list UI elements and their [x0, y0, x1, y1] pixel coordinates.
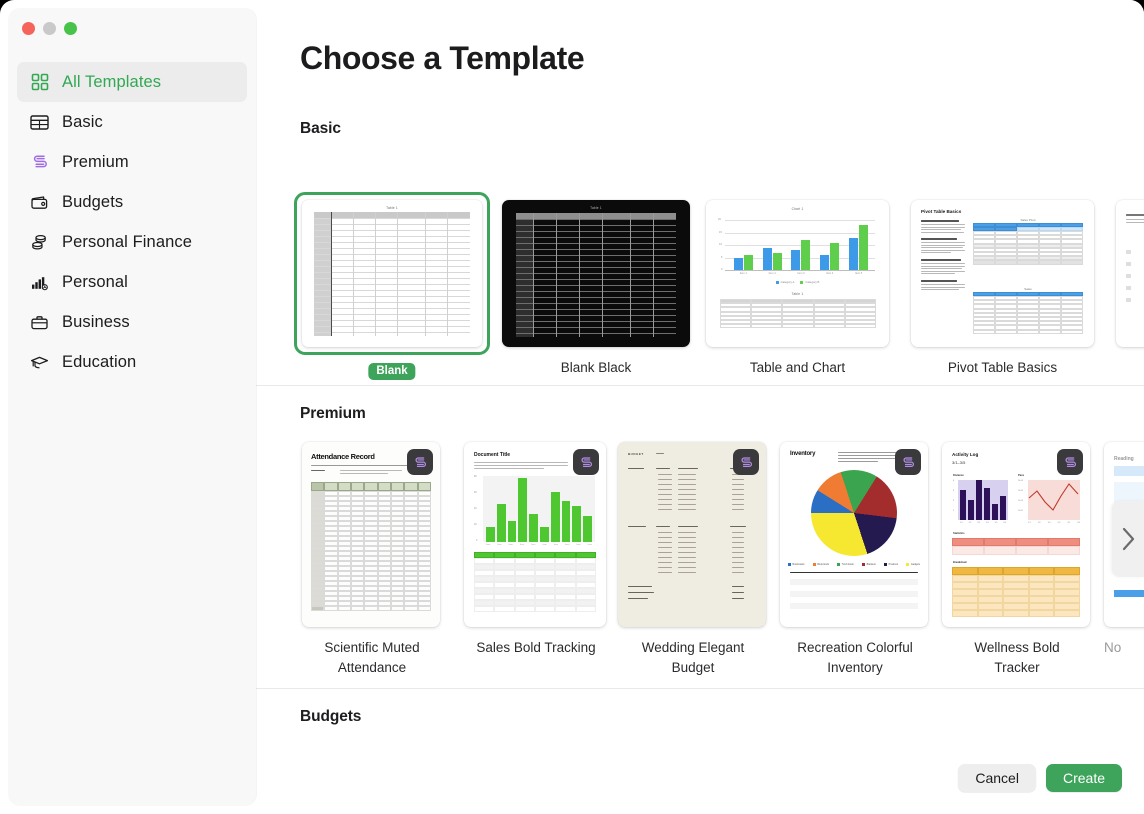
template-thumbnail: Activity Log 3/1–3/5 Distance 4 3 2 1 — [942, 442, 1090, 627]
sidebar-item-label: All Templates — [62, 73, 161, 92]
template-thumbnail: Document Title 80 60 40 20 0 — [464, 442, 606, 627]
premium-loop-icon — [413, 455, 428, 470]
chart-legend: Bookmarks Book Ends Torch Ends Blankets … — [788, 563, 920, 566]
mini-section-title: Breakdown — [953, 561, 967, 564]
mini-section-title: Statistics — [953, 532, 965, 535]
template-thumbnail: BUDGET — [618, 442, 766, 627]
sidebar-item-label: Premium — [62, 153, 129, 172]
mini-doc-title: BUDGET — [628, 452, 644, 456]
mini-table — [720, 299, 876, 328]
mini-doc-title: Attendance Record — [311, 452, 375, 461]
template-thumbnail: Attendance Record — [302, 442, 440, 627]
premium-badge — [895, 449, 921, 475]
template-card-scientific-muted-attendance[interactable]: Attendance Record — [302, 442, 442, 678]
legend-label: Book Ends — [817, 563, 829, 566]
premium-badge — [733, 449, 759, 475]
mini-chart-title: Pace — [1018, 474, 1024, 477]
template-label: Wedding Elegant Budget — [618, 638, 768, 678]
template-thumbnail: Chart 1 20 15 10 5 0 — [706, 200, 889, 347]
sidebar-item-label: Personal Finance — [62, 233, 192, 252]
grid-icon — [29, 72, 50, 93]
mini-doc-title: Pivot Table Basics — [921, 209, 961, 214]
template-card-wellness-bold-tracker[interactable]: Activity Log 3/1–3/5 Distance 4 3 2 1 — [942, 442, 1092, 678]
chart-legend: Category A Category B — [706, 280, 889, 284]
mini-pivot-title: Sales Pivot — [973, 218, 1083, 222]
template-card-partial-basic[interactable] — [1116, 200, 1144, 347]
template-card-blank-black[interactable]: Table 1 — [502, 200, 690, 378]
maximize-window-button[interactable] — [64, 22, 77, 35]
mini-data-table — [474, 552, 596, 612]
coins-icon — [29, 232, 50, 253]
sidebar-item-basic[interactable]: Basic — [17, 102, 247, 142]
legend-label: Products — [889, 563, 898, 566]
graduation-cap-icon — [29, 352, 50, 373]
x-tick-label: Item 4 — [826, 272, 833, 275]
section-divider — [256, 385, 1144, 386]
premium-badge — [573, 449, 599, 475]
legend-label: Bookmarks — [793, 563, 805, 566]
sidebar-item-label: Personal — [62, 273, 128, 292]
window-controls — [22, 22, 77, 35]
mini-chart-title: Chart 1 — [706, 207, 889, 211]
premium-badge — [1057, 449, 1083, 475]
sidebar-item-budgets[interactable]: Budgets — [17, 182, 247, 222]
mini-doc-title: Reading — [1114, 456, 1134, 462]
mini-table-title: Table 1 — [706, 292, 889, 296]
sidebar-item-business[interactable]: Business — [17, 302, 247, 342]
cancel-button[interactable]: Cancel — [958, 764, 1036, 792]
scroll-right-button[interactable] — [1112, 501, 1144, 577]
premium-loop-icon — [579, 455, 594, 470]
legend-label: Torch Ends — [842, 563, 854, 566]
template-label: Scientific Muted Attendance — [302, 638, 442, 678]
bar-chart-person-icon — [29, 272, 50, 293]
table-icon — [29, 112, 50, 133]
premium-badge — [407, 449, 433, 475]
sidebar-item-label: Budgets — [62, 193, 123, 212]
sidebar-item-premium[interactable]: Premium — [17, 142, 247, 182]
chevron-right-icon — [1120, 525, 1137, 553]
section-header-premium: Premium — [300, 405, 366, 423]
x-tick-label: Item 3 — [797, 272, 804, 275]
template-badge-blank: Blank — [368, 363, 415, 380]
template-label: No — [1104, 638, 1144, 658]
template-label: Recreation Colorful Inventory — [780, 638, 930, 678]
mini-attendance-table — [311, 482, 431, 611]
template-thumbnail: Pivot Table Basics — [911, 200, 1094, 347]
template-label: Wellness Bold Tracker — [942, 638, 1092, 678]
legend-label: Category B — [805, 280, 819, 284]
sidebar-nav: All Templates Basic — [17, 62, 247, 382]
mini-data-table — [973, 292, 1083, 334]
template-label: Pivot Table Basics — [911, 358, 1094, 378]
mini-chart-title: Distance — [953, 474, 964, 477]
premium-loop-icon — [901, 455, 916, 470]
close-window-button[interactable] — [22, 22, 35, 35]
wallet-icon — [29, 192, 50, 213]
template-card-blank[interactable]: Table 1 — [294, 192, 490, 383]
sidebar-item-label: Business — [62, 313, 130, 332]
mini-doc-title: Inventory — [790, 451, 815, 457]
premium-loop-icon — [1063, 455, 1078, 470]
template-card-recreation-colorful-inventory[interactable]: Inventory Bookmarks Book Ends Torch Ends… — [780, 442, 930, 678]
template-thumbnail — [1116, 200, 1144, 347]
template-card-pivot-table-basics[interactable]: Pivot Table Basics — [911, 200, 1094, 378]
mini-statistics-table — [952, 538, 1080, 555]
section-header-basic: Basic — [300, 120, 341, 138]
mini-table-title: Table 1 — [502, 206, 690, 210]
template-card-sales-bold-tracking[interactable]: Document Title 80 60 40 20 0 — [464, 442, 608, 658]
template-gallery: Choose a Template Basic Table 1 — [256, 0, 1144, 814]
legend-label: Category A — [781, 280, 795, 284]
minimize-window-button[interactable] — [43, 22, 56, 35]
template-thumbnail: Table 1 — [502, 200, 690, 347]
sidebar-item-education[interactable]: Education — [17, 342, 247, 382]
mini-table-title: Table 1 — [302, 206, 482, 210]
legend-label: Blankets — [867, 563, 876, 566]
briefcase-icon — [29, 312, 50, 333]
premium-loop-icon — [739, 455, 754, 470]
sidebar-item-personal[interactable]: Personal — [17, 262, 247, 302]
page-title: Choose a Template — [300, 40, 584, 77]
pie-chart — [811, 470, 897, 556]
section-header-budgets: Budgets — [300, 708, 361, 726]
x-tick-label: Item 2 — [769, 272, 776, 275]
blank-grid-dark — [516, 213, 676, 337]
bar-chart-bars — [960, 480, 1006, 520]
template-chooser-window: All Templates Basic — [0, 0, 1144, 814]
template-card-wedding-elegant-budget[interactable]: BUDGET — [618, 442, 768, 678]
mini-date-range: 3/1–3/5 — [952, 460, 965, 465]
template-card-table-and-chart[interactable]: Chart 1 20 15 10 5 0 — [706, 200, 889, 378]
bar-chart-bars — [729, 220, 873, 270]
template-label: Blank Black — [502, 358, 690, 378]
line-chart-series — [1028, 480, 1080, 520]
mini-doc-title: Activity Log — [952, 452, 978, 457]
template-label: Table and Chart — [706, 358, 889, 378]
sidebar-item-label: Basic — [62, 113, 103, 132]
mini-data-title: Sales — [973, 287, 1083, 291]
template-thumbnail: Table 1 — [302, 200, 482, 347]
template-label: Sales Bold Tracking — [464, 638, 608, 658]
create-button[interactable]: Create — [1046, 764, 1122, 792]
blank-grid — [314, 212, 470, 336]
mini-breakdown-table — [952, 567, 1080, 617]
dialog-actions: Cancel Create — [958, 764, 1122, 792]
sidebar-item-all-templates[interactable]: All Templates — [17, 62, 247, 102]
x-tick-label: Item 1 — [740, 272, 747, 275]
sidebar-item-personal-finance[interactable]: Personal Finance — [17, 222, 247, 262]
premium-loop-icon — [29, 152, 50, 173]
mini-pivot-table — [973, 223, 1083, 265]
section-divider — [256, 688, 1144, 689]
mini-data-table — [790, 573, 918, 615]
bar-chart-bars — [486, 476, 592, 542]
mini-doc-title: Document Title — [474, 452, 510, 458]
sidebar-item-label: Education — [62, 353, 136, 372]
x-tick-label: Item 5 — [855, 272, 862, 275]
sidebar: All Templates Basic — [8, 8, 256, 806]
legend-label: Gadgets — [911, 563, 920, 566]
template-thumbnail: Inventory Bookmarks Book Ends Torch Ends… — [780, 442, 928, 627]
